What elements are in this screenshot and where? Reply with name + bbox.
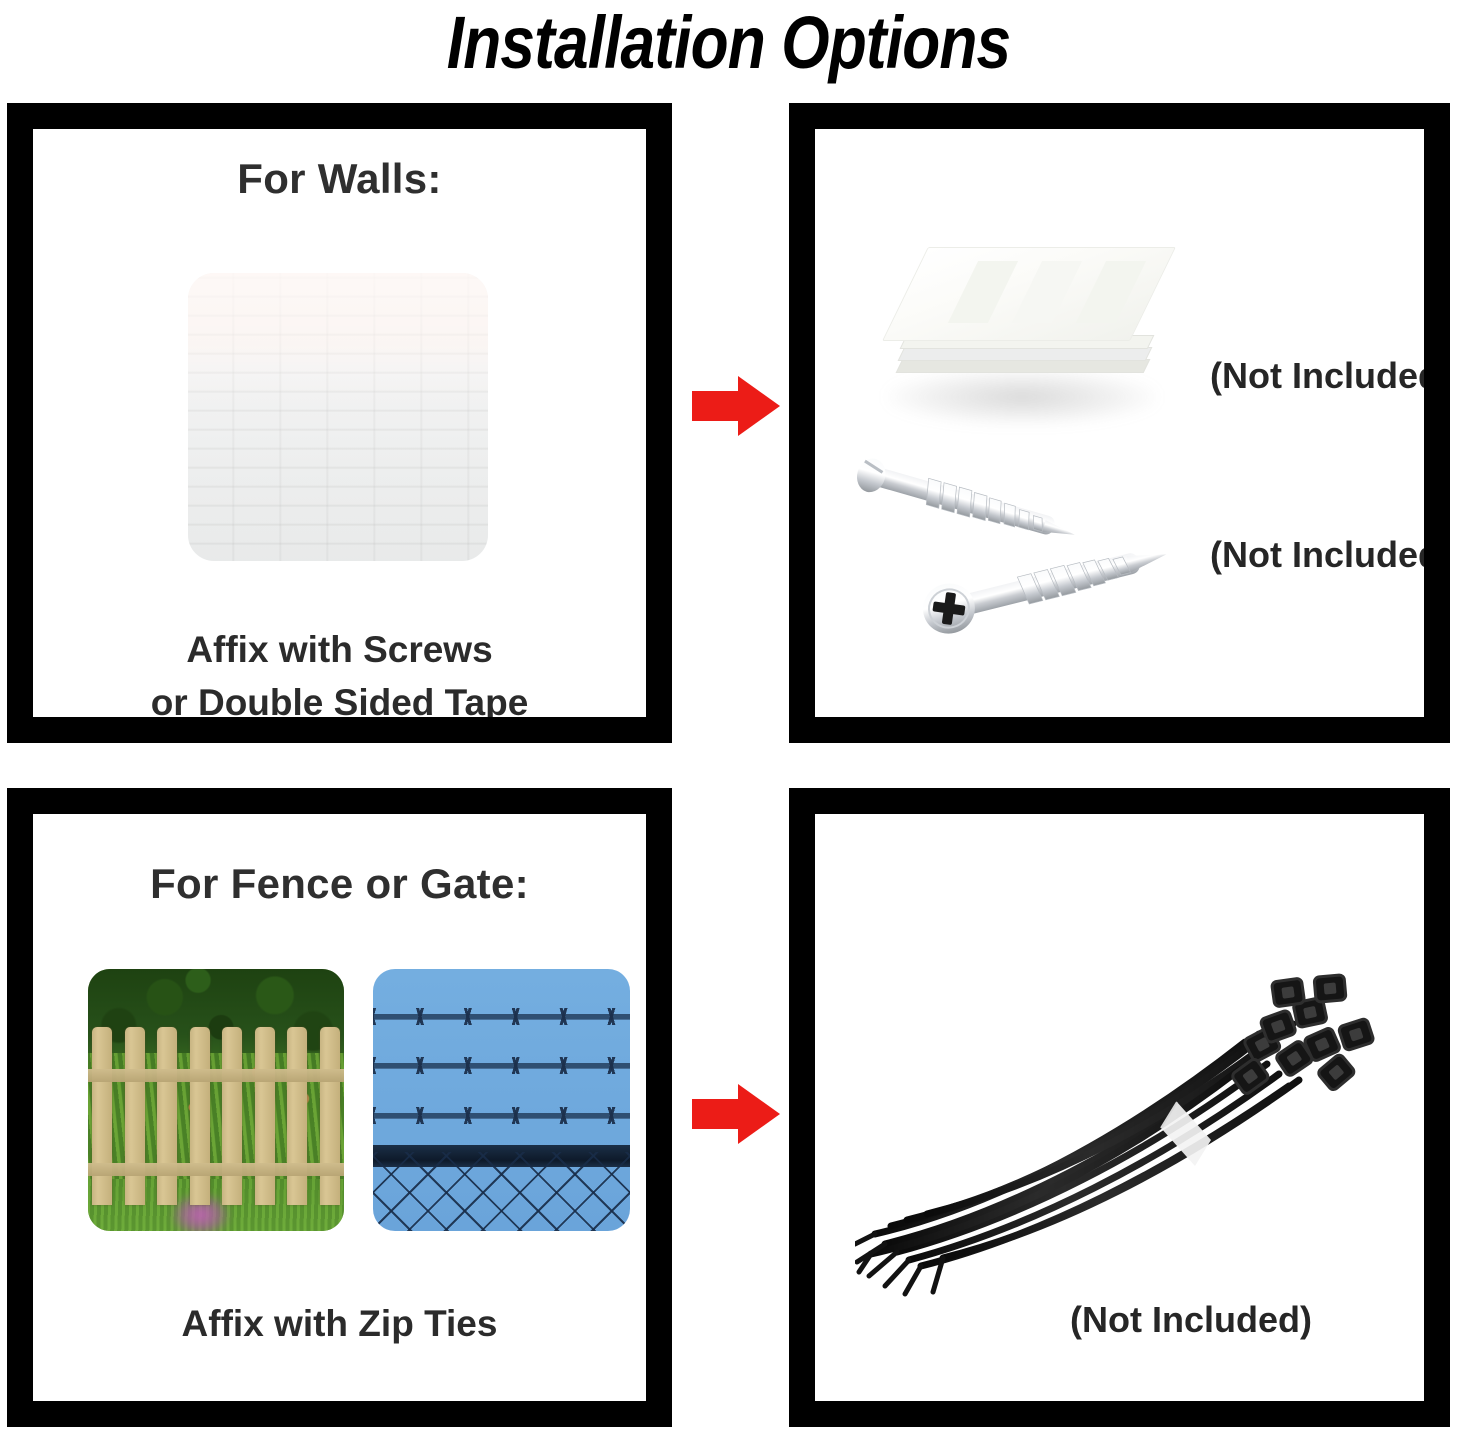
panel-zip-ties: (Not Included)	[789, 788, 1450, 1427]
red-right-arrow-bottom	[692, 1084, 780, 1144]
wooden-picket-fence-photo	[88, 969, 344, 1231]
fence-picket	[125, 1027, 145, 1205]
page-title: Installation Options	[117, 0, 1341, 90]
panel-for-fence-heading: For Fence or Gate:	[33, 860, 646, 908]
arrow-head	[738, 376, 780, 436]
tape-layer	[896, 359, 1151, 373]
zip-tie-straps	[871, 1024, 1299, 1266]
arrow-head	[738, 1084, 780, 1144]
panel-for-walls-heading: For Walls:	[33, 155, 646, 203]
barbed-wire-strand	[373, 1014, 630, 1019]
fence-picket	[320, 1027, 340, 1205]
zip-tie-heads	[1231, 975, 1374, 1096]
arrow-shaft	[692, 1099, 744, 1129]
tape-layer	[898, 347, 1153, 361]
chain-link-mesh	[373, 1152, 630, 1231]
panel-for-walls-caption-line1: Affix with Screws	[33, 623, 646, 676]
tape-shadow	[887, 369, 1157, 425]
panel-for-walls-caption-line2: or Double Sided Tape	[33, 676, 646, 717]
screw-upper	[853, 455, 1080, 550]
fence-picket	[92, 1027, 112, 1205]
panel-for-fence-caption: Affix with Zip Ties	[33, 1297, 646, 1350]
tape-not-included-label: (Not Included)	[1210, 355, 1424, 397]
silver-screws-photo	[837, 449, 1187, 669]
white-brick-wall-photo	[188, 273, 488, 561]
panel-for-fence-or-gate: For Fence or Gate:	[7, 788, 672, 1427]
black-zip-ties-bundle-photo	[855, 914, 1385, 1304]
double-sided-tape-stack-photo	[877, 241, 1177, 436]
panel-for-walls: For Walls: Affix with Screws or Double S…	[7, 103, 672, 743]
zipties-not-included-label: (Not Included)	[1070, 1299, 1312, 1341]
fence-picket	[255, 1027, 275, 1205]
fence-picket	[222, 1027, 242, 1205]
screw-lower	[918, 530, 1173, 639]
red-right-arrow-top	[692, 376, 780, 436]
panel-hardware: (Not Included)	[789, 103, 1450, 743]
fence-rail-top	[88, 1069, 344, 1082]
barbed-wire-strand	[373, 1113, 630, 1118]
barbed-wire-strand	[373, 1063, 630, 1068]
chain-link-barbed-wire-fence-photo	[373, 969, 630, 1231]
fence-picket	[157, 1027, 177, 1205]
wall-sheen-overlay	[188, 273, 488, 561]
fence-picket	[287, 1027, 307, 1205]
fence-picket	[190, 1027, 210, 1205]
fence-rail-bottom	[88, 1163, 344, 1176]
screws-not-included-label: (Not Included)	[1210, 534, 1424, 576]
picket-row	[88, 1027, 344, 1205]
arrow-shaft	[692, 391, 744, 421]
